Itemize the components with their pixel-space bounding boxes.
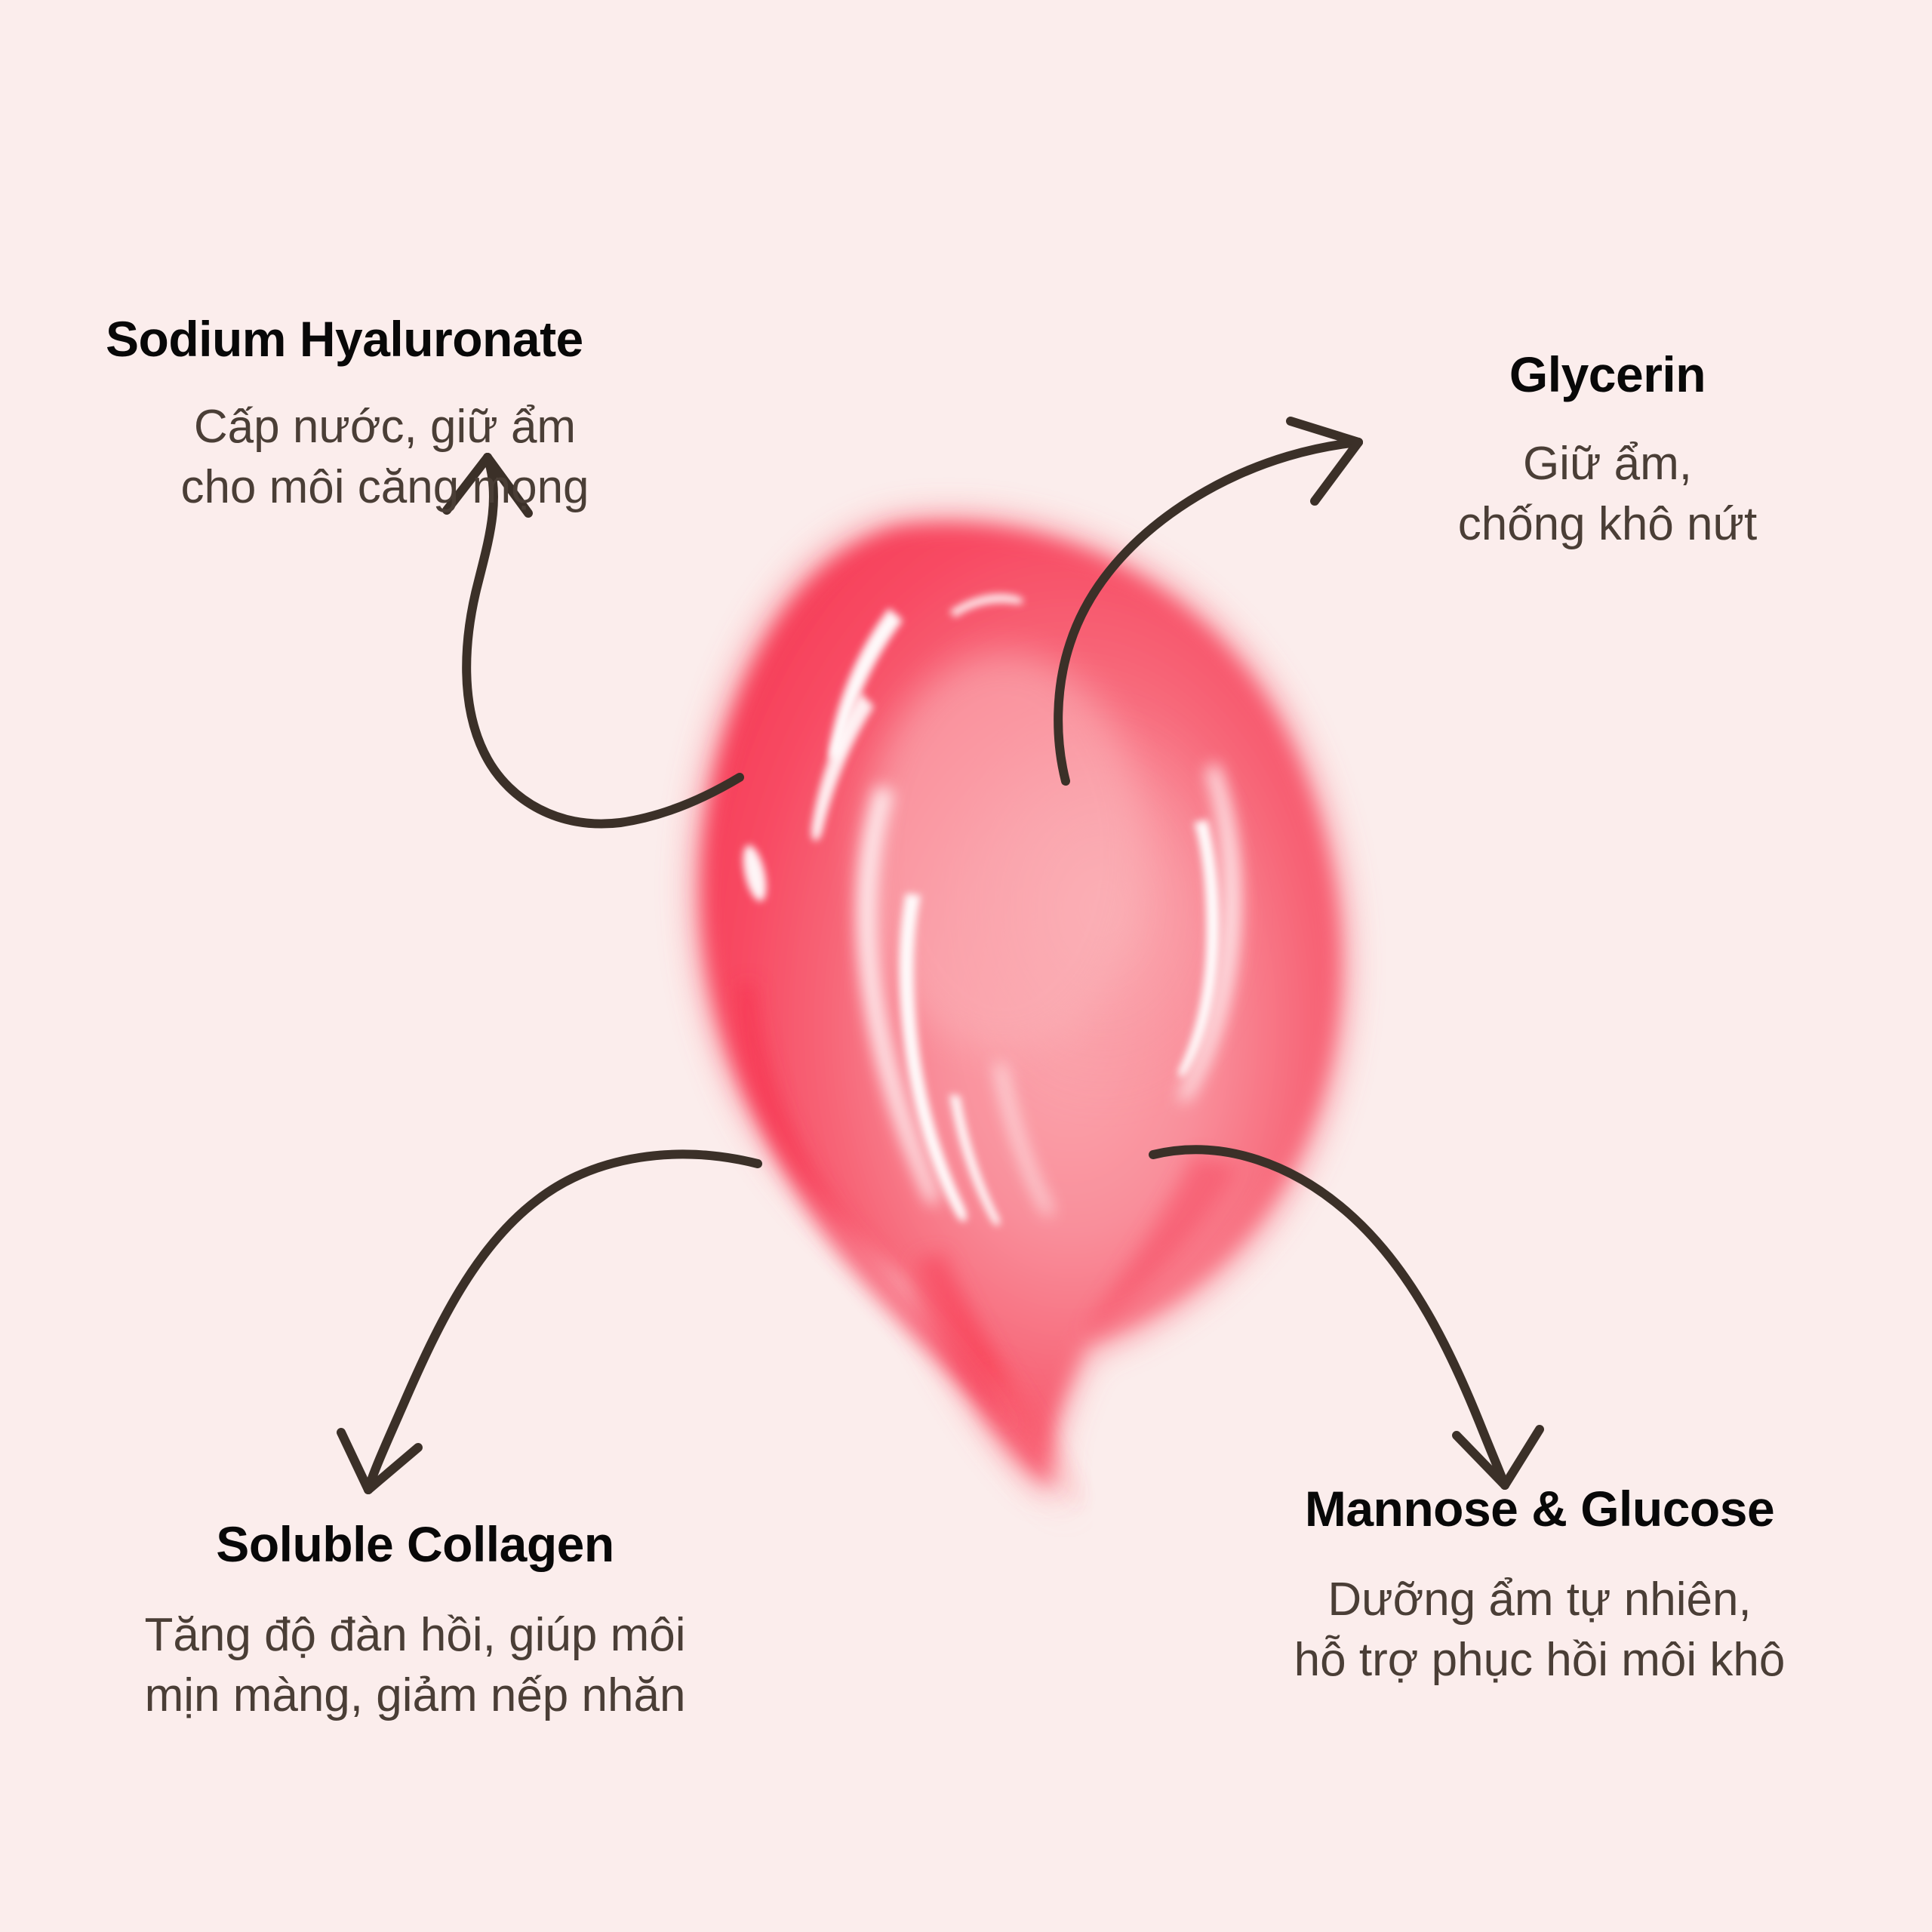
label-desc-mannose-glucose: Dưỡng ẩm tự nhiên, hỗ trợ phục hồi môi k… [1177,1570,1902,1690]
arrow-glycerin [1058,421,1358,781]
label-title-glycerin: Glycerin [1366,349,1849,401]
label-soluble-collagen: Soluble Collagen Tăng độ đàn hồi, giúp m… [38,1518,792,1725]
label-title-soluble-collagen: Soluble Collagen [38,1518,792,1571]
label-glycerin: Glycerin Giữ ẩm, chống khô nứt [1366,349,1849,554]
label-mannose-glucose: Mannose & Glucose Dưỡng ẩm tự nhiên, hỗ … [1177,1483,1902,1690]
arrow-mannose-glucose [1153,1149,1540,1485]
label-desc-glycerin: Giữ ẩm, chống khô nứt [1366,434,1849,554]
label-desc-sodium-hyaluronate: Cấp nước, giữ ẩm cho môi căng mọng [106,397,724,517]
label-title-sodium-hyaluronate: Sodium Hyaluronate [106,313,724,365]
label-desc-soluble-collagen: Tăng độ đàn hồi, giúp môi mịn màng, giảm… [38,1605,792,1725]
arrow-soluble-collagen [341,1155,758,1490]
label-title-mannose-glucose: Mannose & Glucose [1177,1483,1902,1535]
label-sodium-hyaluronate: Sodium Hyaluronate Cấp nước, giữ ẩm cho … [106,313,724,517]
ingredient-infographic: Sodium Hyaluronate Cấp nước, giữ ẩm cho … [0,0,1932,1932]
